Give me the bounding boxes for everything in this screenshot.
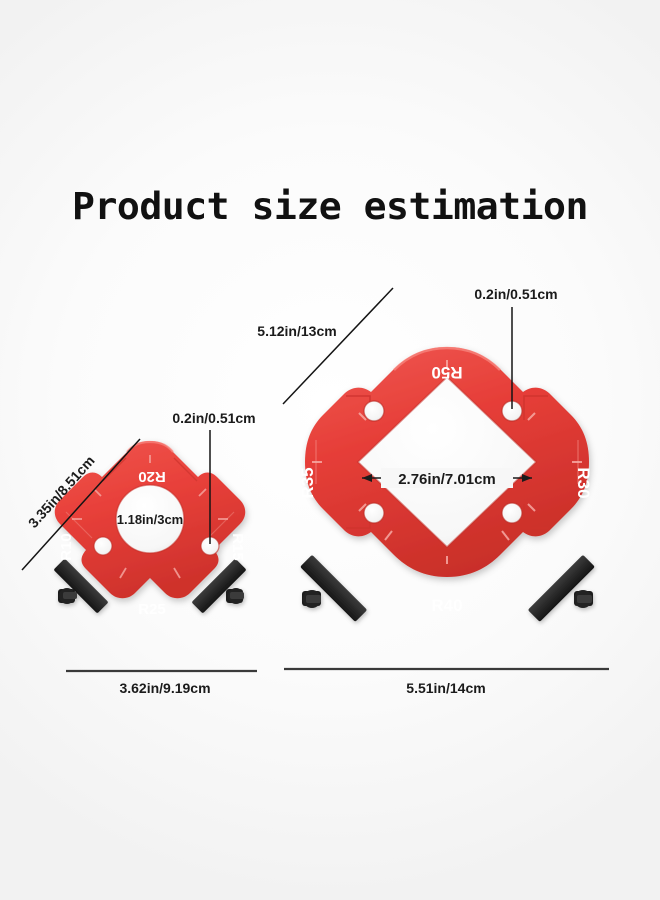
small-jig-center-hole-label: 1.18in/3cm (117, 512, 184, 527)
small-jig-group: R20 R15 R25 R10 1.18in/3cm 3.35in/8.51cm… (22, 410, 257, 696)
small-jig-label-r10: R10 (58, 533, 75, 561)
large-jig-hole-dimension: 0.2in/0.51cm (474, 286, 557, 302)
large-jig-clamp-left (300, 555, 367, 622)
large-jig-width-dimension: 5.51in/14cm (406, 680, 485, 696)
clamp-rail-right-large (528, 555, 595, 622)
large-jig-opening-dimension: 2.76in/7.01cm (398, 471, 496, 488)
clamp-knob-right-large-grip (577, 595, 592, 603)
small-jig-hole-dimension: 0.2in/0.51cm (172, 410, 255, 426)
clamp-knob-right-grip (230, 592, 244, 599)
large-jig-label-r30: R30 (574, 467, 593, 498)
large-jig-label-r40: R40 (431, 596, 462, 615)
clamp-rail-left-large (300, 555, 367, 622)
large-jig-group: R50 R30 R40 R35 2.76in/7.01cm 5.12in/13c… (257, 286, 609, 696)
small-jig-width-dimension: 3.62in/9.19cm (119, 680, 210, 696)
product-diagram: R20 R15 R25 R10 1.18in/3cm 3.35in/8.51cm… (0, 0, 660, 900)
small-jig-label-r15: R15 (229, 533, 246, 561)
product-size-estimation-image: Product size estimation (0, 0, 660, 900)
small-jig-label-r25: R25 (138, 601, 166, 618)
large-jig-label-r35: R35 (298, 467, 317, 498)
large-jig-label-r50: R50 (431, 363, 462, 382)
large-jig-diagonal-dimension: 5.12in/13cm (257, 323, 336, 339)
small-jig-label-r20: R20 (138, 468, 166, 485)
clamp-knob-left-large-grip (306, 595, 321, 603)
large-jig-clamp-right (528, 555, 595, 622)
clamp-knob-left-grip (63, 592, 77, 599)
